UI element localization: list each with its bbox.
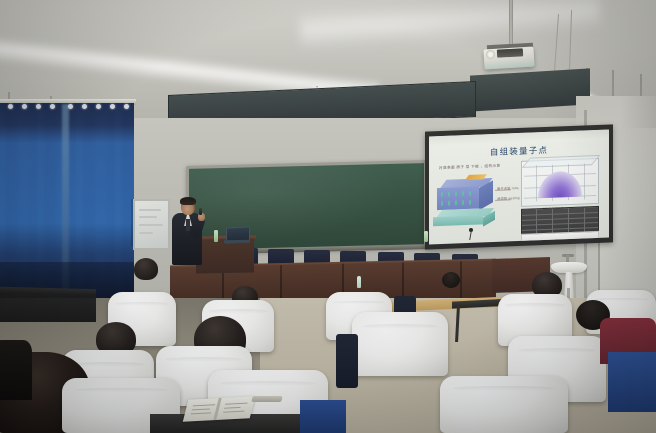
- substrate-front-face: [433, 215, 483, 226]
- curtain-grommet-icon: [50, 104, 55, 109]
- slide-subtext: 衬底表面 原子 层 下能 ，结构示意: [439, 164, 501, 171]
- quantum-dot-surface-plot: 量子点 能级分布: [521, 158, 599, 207]
- foreground-student-shoulder: [0, 340, 32, 400]
- projector-top-detail: [497, 48, 523, 57]
- water-bottle: [424, 231, 428, 242]
- curtain-grommet-icon: [96, 104, 101, 109]
- classroom-photo: 自组装量子点 衬底表面 原子 层 下能 ，结构示意 量子点层 InAs: [0, 0, 656, 433]
- lectern: [196, 238, 254, 273]
- desk-side-panel: [300, 400, 346, 433]
- projection-screen: 自组装量子点 衬底表面 原子 层 下能 ，结构示意 量子点层 InAs: [429, 130, 609, 245]
- desk-side-panel: [608, 352, 656, 412]
- pen: [251, 396, 282, 402]
- stack-front-face: [437, 187, 479, 211]
- ceiling-beam-right: [470, 68, 590, 111]
- curtain-grommet-icon: [82, 104, 87, 109]
- presenter-tie: [186, 219, 190, 231]
- projector-mount-pole: [509, 0, 513, 46]
- water-bottle: [214, 230, 218, 242]
- curtain-grommet-icon: [22, 104, 27, 109]
- presenter-hair: [180, 197, 196, 205]
- notice-board: [133, 199, 170, 250]
- microphone-icon: [199, 208, 202, 215]
- curtain-grommet-icon: [110, 104, 115, 109]
- curtain-grommet-icon: [36, 104, 41, 109]
- wall-sink: [551, 262, 587, 273]
- callout-label-1: 量子点层 InAs: [497, 185, 519, 191]
- chair-cover: [352, 312, 448, 376]
- water-bottle: [357, 276, 361, 288]
- student-head: [134, 258, 158, 280]
- student-head: [442, 272, 460, 288]
- curtain-grommet-icon: [8, 104, 13, 109]
- laptop-base[interactable]: [224, 240, 250, 243]
- curtain-grommet-icon: [124, 104, 129, 109]
- quantum-dot-stack-diagram: 量子点层 InAs 浸润层 wetting layer: [437, 173, 507, 228]
- student-dark-jacket: [336, 334, 358, 388]
- left-desk: [0, 294, 96, 322]
- curtain-grommet-icon: [68, 104, 73, 109]
- chair-cover: [440, 376, 568, 433]
- plot-box-top-face: [522, 155, 600, 168]
